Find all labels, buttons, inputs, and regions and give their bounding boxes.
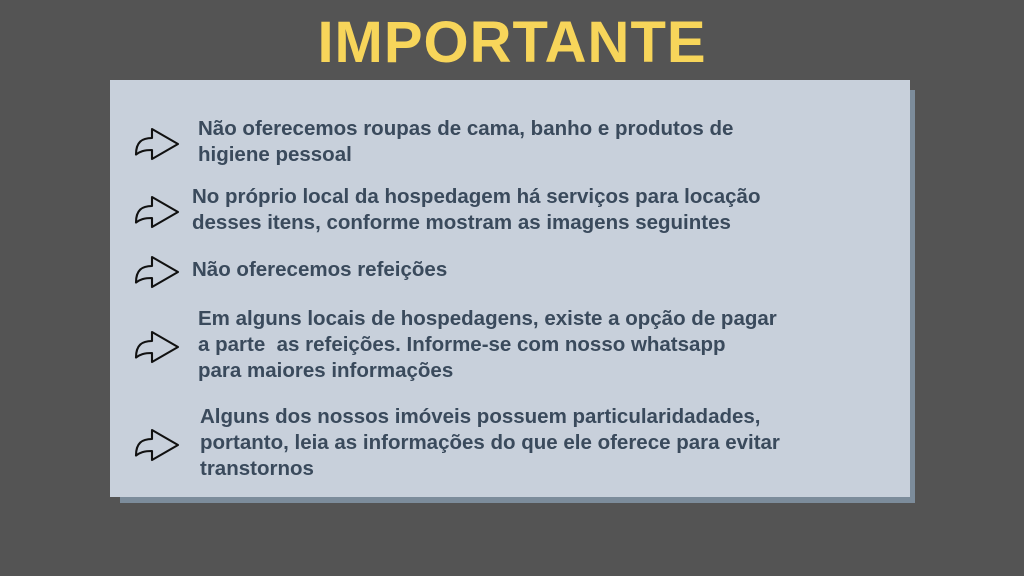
curved-right-arrow-icon bbox=[132, 325, 184, 365]
list-item-label: Não oferecemos roupas de cama, banho e p… bbox=[190, 116, 733, 168]
list-item: No próprio local da hospedagem há serviç… bbox=[132, 184, 888, 236]
list-item-label: Em alguns locais de hospedagens, existe … bbox=[190, 306, 777, 384]
list-item: Não oferecemos refeições bbox=[132, 250, 888, 290]
list-item: Em alguns locais de hospedagens, existe … bbox=[132, 306, 888, 384]
curved-right-arrow-icon bbox=[132, 190, 184, 230]
list-item-label: Alguns dos nossos imóveis possuem partic… bbox=[190, 404, 780, 482]
curved-right-arrow-icon bbox=[132, 122, 184, 162]
bullet-list: Não oferecemos roupas de cama, banho e p… bbox=[132, 98, 888, 482]
list-item: Alguns dos nossos imóveis possuem partic… bbox=[132, 404, 888, 482]
content-card: Não oferecemos roupas de cama, banho e p… bbox=[110, 80, 910, 497]
list-item-label: No próprio local da hospedagem há serviç… bbox=[190, 184, 761, 236]
list-item: Não oferecemos roupas de cama, banho e p… bbox=[132, 116, 888, 168]
presentation-slide: IMPORTANTE Não oferecemos roupas de cama… bbox=[0, 0, 1024, 576]
page-title: IMPORTANTE bbox=[0, 12, 1024, 74]
curved-right-arrow-icon bbox=[132, 423, 184, 463]
list-item-label: Não oferecemos refeições bbox=[190, 257, 447, 283]
curved-right-arrow-icon bbox=[132, 250, 184, 290]
